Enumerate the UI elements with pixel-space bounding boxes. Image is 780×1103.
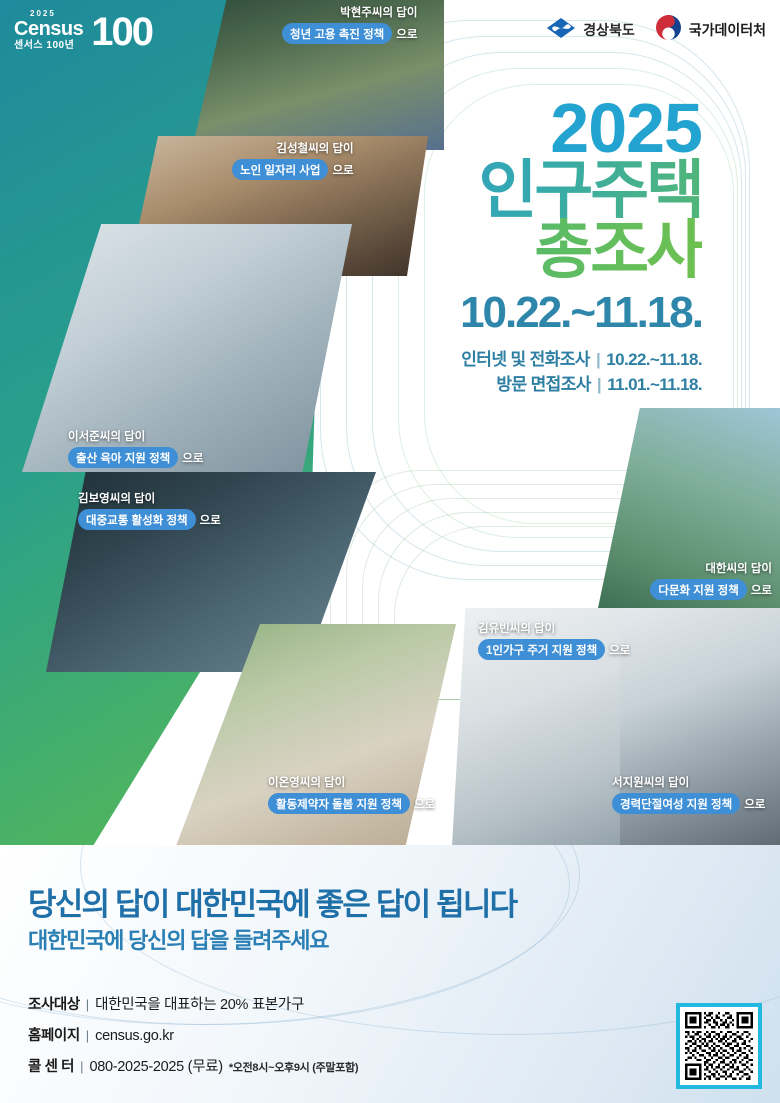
info-value: 대한민국을 대표하는 20% 표본가구 — [95, 993, 304, 1014]
method-separator: | — [595, 375, 603, 394]
caption-policy-pill: 다문화 지원 정책 — [650, 579, 746, 600]
caption-career-women: 서지원씨의 답이 경력단절여성 지원 정책 으로 — [612, 776, 765, 814]
org-gyeongbuk: 경상북도 — [546, 17, 635, 44]
taegeuk-government-logo — [655, 14, 682, 46]
title-year: 2025 — [372, 96, 702, 160]
caption-person: 이서준씨의 답이 — [68, 430, 203, 444]
caption-suffix: 으로 — [751, 582, 772, 598]
info-value-phone: 080-2025-2025 (무료) — [89, 1055, 222, 1076]
org-national-data: 국가데이터처 — [655, 14, 766, 46]
bottom-info-section: 당신의 답이 대한민국에 좋은 답이 됩니다 대한민국에 당신의 답을 들려주세… — [0, 845, 780, 1103]
poster-tagline-sub: 대한민국에 당신의 답을 들려주세요 — [28, 923, 328, 955]
caption-suffix: 으로 — [609, 642, 630, 658]
survey-methods: 인터넷 및 전화조사 | 10.22.~11.18. 방문 면접조사 | 11.… — [372, 347, 702, 398]
caption-policy-pill: 경력단절여성 지원 정책 — [612, 793, 740, 814]
caption-youth-employment: 박현주씨의 답이 청년 고용 촉진 정책 으로 — [282, 6, 417, 44]
method-period: 11.01.~11.18. — [607, 375, 702, 394]
title-line-2: 총조사 — [372, 218, 702, 283]
contact-info-list: 조사대상 | 대한민국을 대표하는 20% 표본가구 홈페이지 | census… — [28, 993, 358, 1086]
info-label: 조사대상 — [28, 993, 80, 1014]
caption-person: 대한씨의 답이 — [650, 562, 772, 576]
info-separator: | — [86, 997, 89, 1012]
info-value-website[interactable]: census.go.kr — [95, 1028, 174, 1044]
caption-person: 김유빈씨의 답이 — [478, 622, 630, 636]
poster-title-block: 2025 인구주택 총조사 10.22.~11.18. 인터넷 및 전화조사 |… — [372, 96, 702, 398]
caption-person: 박현주씨의 답이 — [282, 6, 417, 20]
caption-person: 김성철씨의 답이 — [232, 142, 354, 156]
method-label: 방문 면접조사 — [496, 375, 590, 394]
poster-tagline: 당신의 답이 대한민국에 좋은 답이 됩니다 — [28, 879, 516, 924]
logo-korean: 센서스 100년 — [14, 41, 83, 51]
caption-suffix: 으로 — [200, 512, 221, 528]
caption-suffix: 으로 — [182, 450, 203, 466]
method-separator: | — [594, 350, 602, 369]
qr-code-icon — [685, 1012, 753, 1080]
census-100-anniversary-logo: 2025 Census 센서스 100년 100 — [14, 8, 152, 53]
gyeongbuk-wave-logo — [546, 17, 576, 44]
caption-suffix: 으로 — [396, 26, 417, 42]
caption-multicultural: 대한씨의 답이 다문화 지원 정책 으로 — [650, 562, 772, 600]
organization-logos: 경상북도 국가데이터처 — [546, 14, 766, 46]
caption-suffix: 으로 — [332, 162, 353, 178]
logo-wordmark: Census — [14, 19, 83, 39]
method-period: 10.22.~11.18. — [606, 350, 702, 369]
caption-caregiving: 이온영씨의 답이 활동제약자 돌봄 지원 정책 으로 — [268, 776, 435, 814]
org-name: 국가데이터처 — [689, 20, 766, 40]
caption-childcare: 이서준씨의 답이 출산 육아 지원 정책 으로 — [68, 430, 203, 468]
info-label: 콜 센 터 — [28, 1055, 74, 1076]
caption-public-transit: 김보영씨의 답이 대중교통 활성화 정책 으로 — [78, 492, 221, 530]
caption-policy-pill: 활동제약자 돌봄 지원 정책 — [268, 793, 410, 814]
info-separator: | — [80, 1059, 83, 1074]
caption-policy-pill: 청년 고용 촉진 정책 — [282, 23, 392, 44]
info-label: 홈페이지 — [28, 1024, 80, 1045]
info-separator: | — [86, 1028, 89, 1043]
info-row-callcenter: 콜 센 터 | 080-2025-2025 (무료) *오전8시~오후9시 (주… — [28, 1055, 358, 1076]
info-row-target: 조사대상 | 대한민국을 대표하는 20% 표본가구 — [28, 993, 358, 1014]
org-name: 경상북도 — [583, 20, 635, 40]
survey-date-range: 10.22.~11.18. — [372, 291, 702, 335]
caption-policy-pill: 노인 일자리 사업 — [232, 159, 328, 180]
survey-method-row: 인터넷 및 전화조사 | 10.22.~11.18. — [372, 347, 702, 373]
logo-year: 2025 — [30, 10, 83, 18]
info-row-website[interactable]: 홈페이지 | census.go.kr — [28, 1024, 358, 1045]
caption-single-household: 김유빈씨의 답이 1인가구 주거 지원 정책 으로 — [478, 622, 630, 660]
caption-person: 이온영씨의 답이 — [268, 776, 435, 790]
caption-person: 김보영씨의 답이 — [78, 492, 221, 506]
caption-suffix: 으로 — [414, 796, 435, 812]
logo-100-mark: 100 — [91, 10, 152, 55]
survey-method-row: 방문 면접조사 | 11.01.~11.18. — [372, 372, 702, 398]
caption-suffix: 으로 — [744, 796, 765, 812]
census-poster: 박현주씨의 답이 청년 고용 촉진 정책 으로 김성철씨의 답이 노인 일자리 … — [0, 0, 780, 1103]
caption-senior-jobs: 김성철씨의 답이 노인 일자리 사업 으로 — [232, 142, 354, 180]
caption-policy-pill: 1인가구 주거 지원 정책 — [478, 639, 605, 660]
photo-collage: 박현주씨의 답이 청년 고용 촉진 정책 으로 김성철씨의 답이 노인 일자리 … — [0, 0, 780, 845]
caption-policy-pill: 출산 육아 지원 정책 — [68, 447, 178, 468]
qr-code[interactable] — [676, 1003, 762, 1089]
caption-policy-pill: 대중교통 활성화 정책 — [78, 509, 196, 530]
caption-person: 서지원씨의 답이 — [612, 776, 765, 790]
info-hours-note: *오전8시~오후9시 (주말포함) — [229, 1059, 358, 1075]
method-label: 인터넷 및 전화조사 — [461, 350, 590, 369]
